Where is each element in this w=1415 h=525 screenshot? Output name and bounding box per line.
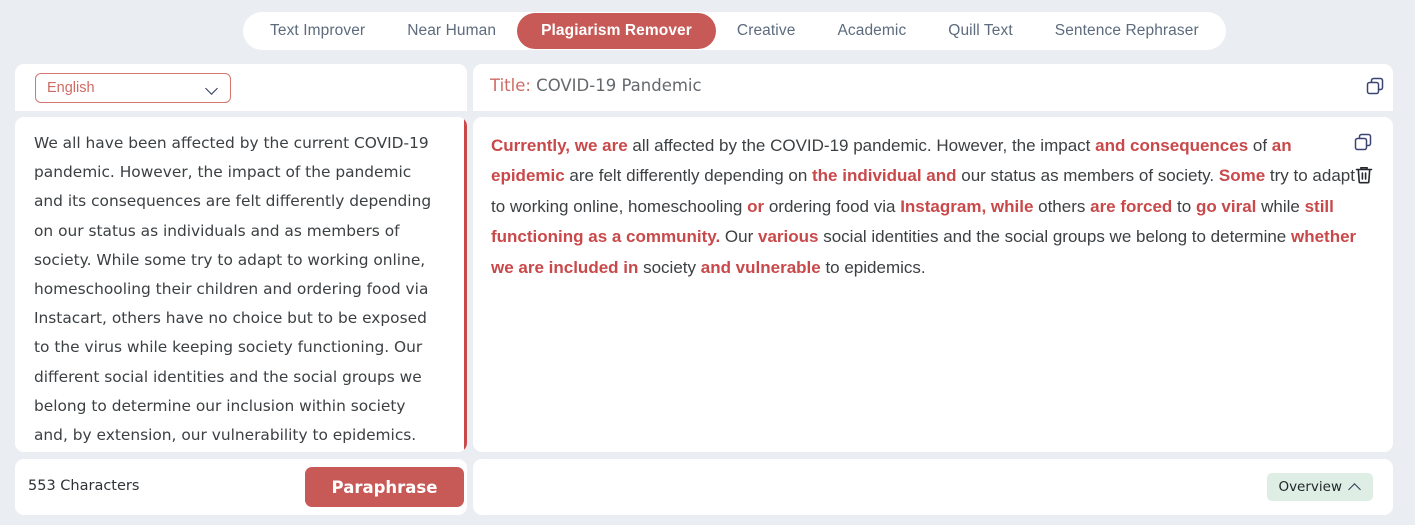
plain-text: are felt differently depending on bbox=[565, 166, 812, 185]
plain-text: ordering food via bbox=[764, 197, 900, 216]
tab-bar: Text ImproverNear HumanPlagiarism Remove… bbox=[243, 12, 1226, 50]
input-textarea-panel[interactable]: We all have been affected by the current… bbox=[15, 117, 467, 452]
plain-text: society bbox=[638, 258, 700, 277]
language-select-value: English bbox=[47, 80, 206, 96]
tab-sentence-rephraser[interactable]: Sentence Rephraser bbox=[1034, 15, 1220, 47]
tab-text-improver[interactable]: Text Improver bbox=[249, 15, 386, 47]
title-line: Title: COVID-19 Pandemic bbox=[490, 76, 702, 95]
tab-near-human[interactable]: Near Human bbox=[386, 15, 517, 47]
tab-bar-container: Text ImproverNear HumanPlagiarism Remove… bbox=[0, 0, 1415, 58]
plain-text: while bbox=[1256, 197, 1304, 216]
plain-text: all affected by the COVID-19 pandemic. H… bbox=[628, 136, 1095, 155]
plain-text: our status as members of society. bbox=[957, 166, 1219, 185]
trash-icon[interactable] bbox=[1353, 164, 1375, 186]
input-text[interactable]: We all have been affected by the current… bbox=[34, 129, 444, 450]
plain-text: Our bbox=[720, 227, 758, 246]
highlighted-text: or bbox=[747, 197, 764, 216]
output-text[interactable]: Currently, we are all affected by the CO… bbox=[491, 131, 1366, 283]
tab-academic[interactable]: Academic bbox=[816, 15, 927, 47]
overview-button[interactable]: Overview bbox=[1267, 473, 1373, 501]
overview-button-label: Overview bbox=[1278, 479, 1342, 495]
paraphrase-button[interactable]: Paraphrase bbox=[305, 467, 464, 507]
output-text-panel[interactable]: Currently, we are all affected by the CO… bbox=[473, 117, 1393, 452]
input-panel-footer: 553 Characters Paraphrase bbox=[15, 459, 467, 515]
chevron-up-icon bbox=[1349, 481, 1362, 494]
plain-text: to bbox=[1172, 197, 1196, 216]
copy-icon[interactable] bbox=[1353, 132, 1375, 154]
plain-text: social identities and the social groups … bbox=[818, 227, 1291, 246]
highlighted-text: Instagram, while bbox=[900, 197, 1033, 216]
highlighted-text: Some bbox=[1219, 166, 1265, 185]
title-value: COVID-19 Pandemic bbox=[536, 76, 701, 95]
plain-text: of bbox=[1248, 136, 1272, 155]
language-select[interactable]: English bbox=[35, 73, 231, 103]
tab-creative[interactable]: Creative bbox=[716, 15, 817, 47]
tab-plagiarism-remover[interactable]: Plagiarism Remover bbox=[517, 13, 716, 49]
highlighted-text: go viral bbox=[1196, 197, 1256, 216]
chevron-down-icon bbox=[206, 82, 219, 95]
highlighted-text: are forced bbox=[1090, 197, 1172, 216]
tab-quill-text[interactable]: Quill Text bbox=[927, 15, 1033, 47]
character-count: 553 Characters bbox=[28, 478, 139, 494]
copy-icon[interactable] bbox=[1365, 76, 1387, 98]
plain-text: to epidemics. bbox=[821, 258, 926, 277]
highlighted-text: and consequences bbox=[1095, 136, 1248, 155]
highlighted-text: Currently, we are bbox=[491, 136, 628, 155]
plain-text: others bbox=[1033, 197, 1090, 216]
highlighted-text: various bbox=[758, 227, 818, 246]
title-label: Title: bbox=[490, 76, 531, 95]
highlighted-text: and vulnerable bbox=[701, 258, 821, 277]
output-panel-header: Title: COVID-19 Pandemic bbox=[473, 64, 1393, 111]
highlighted-text: the individual and bbox=[812, 166, 957, 185]
output-panel-footer: Overview bbox=[473, 459, 1393, 515]
input-panel-header: English bbox=[15, 64, 467, 111]
